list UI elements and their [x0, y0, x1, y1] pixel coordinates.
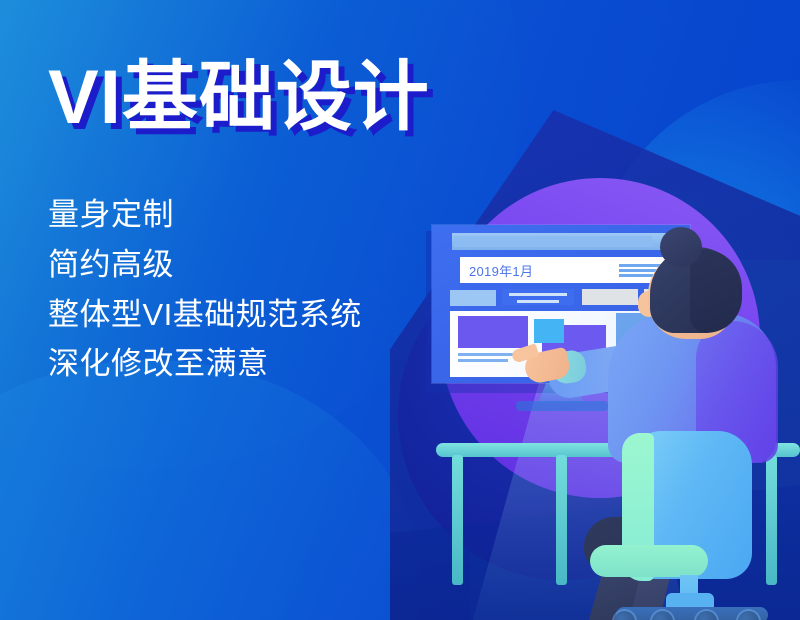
feature-item-4: 深化修改至满意 [48, 345, 362, 384]
monitor-base [516, 401, 608, 411]
browser-titlebar [452, 233, 694, 250]
browser-titlebar-fill [454, 236, 652, 247]
chip-blue [502, 289, 574, 305]
promo-banner: VI基础设计 量身定制 简约高级 整体型VI基础规范系统 深化修改至满意 201… [0, 0, 800, 620]
chair-seat [590, 545, 708, 577]
card-cyan-small [534, 319, 564, 343]
person-hair-bun [660, 227, 702, 267]
feature-item-1: 量身定制 [48, 196, 362, 235]
page-title: VI基础设计 [48, 60, 430, 136]
person-illustration [600, 255, 800, 620]
card-purple-large [458, 316, 528, 348]
desk-leg-1 [452, 455, 463, 585]
chip-light [450, 290, 496, 306]
search-input-value: 2019年1月 [469, 261, 533, 280]
feature-item-2: 简约高级 [48, 246, 362, 285]
feature-list: 量身定制 简约高级 整体型VI基础规范系统 深化修改至满意 [48, 196, 362, 384]
desk-leg-2 [556, 455, 567, 585]
feature-item-3: 整体型VI基础规范系统 [48, 296, 362, 335]
